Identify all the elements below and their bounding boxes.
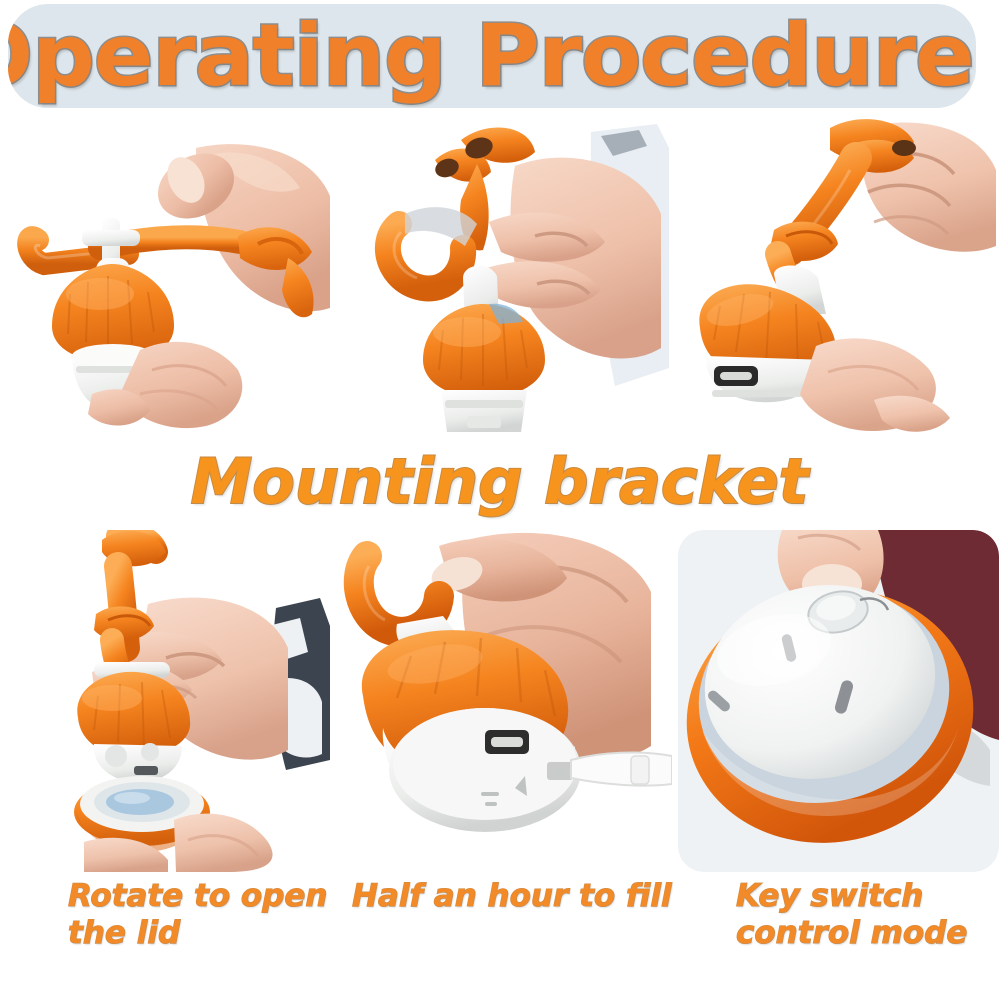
step-photo-charge-half-hour xyxy=(339,530,672,872)
steps-row-bottom xyxy=(0,530,999,872)
step-3-illustration xyxy=(678,118,999,438)
step-photo-knot-rope-at-top xyxy=(339,118,672,438)
step-photo-rotate-open-lid xyxy=(0,530,333,872)
page-title: Operating Procedures xyxy=(8,13,976,99)
steps-row-top xyxy=(0,118,999,438)
step-captions-row: Rotate to open the lid Half an hour to f… xyxy=(0,874,999,988)
step-4-illustration xyxy=(0,530,333,872)
caption-text-1: Rotate to open the lid xyxy=(68,878,340,951)
step-photo-key-switch-control xyxy=(678,530,999,872)
step-1-illustration xyxy=(0,118,333,438)
caption-rotate-open-lid: Rotate to open the lid xyxy=(0,874,340,988)
step-5-illustration xyxy=(339,530,672,872)
caption-text-3: Key switch control mode xyxy=(736,878,999,951)
mounting-bracket-label: Mounting bracket xyxy=(191,451,809,513)
step-photo-thread-rope-through-bracket xyxy=(0,118,333,438)
caption-charge-half-hour: Half an hour to fill xyxy=(340,874,688,988)
header-banner: Operating Procedures xyxy=(8,4,976,108)
step-photo-rope-attached-assembly xyxy=(678,118,999,438)
caption-key-switch-control: Key switch control mode xyxy=(688,874,999,988)
step-2-illustration xyxy=(339,118,672,438)
caption-text-2: Half an hour to fill xyxy=(352,878,688,915)
mounting-bracket-banner: Mounting bracket xyxy=(0,436,999,528)
step-6-illustration xyxy=(678,530,999,872)
